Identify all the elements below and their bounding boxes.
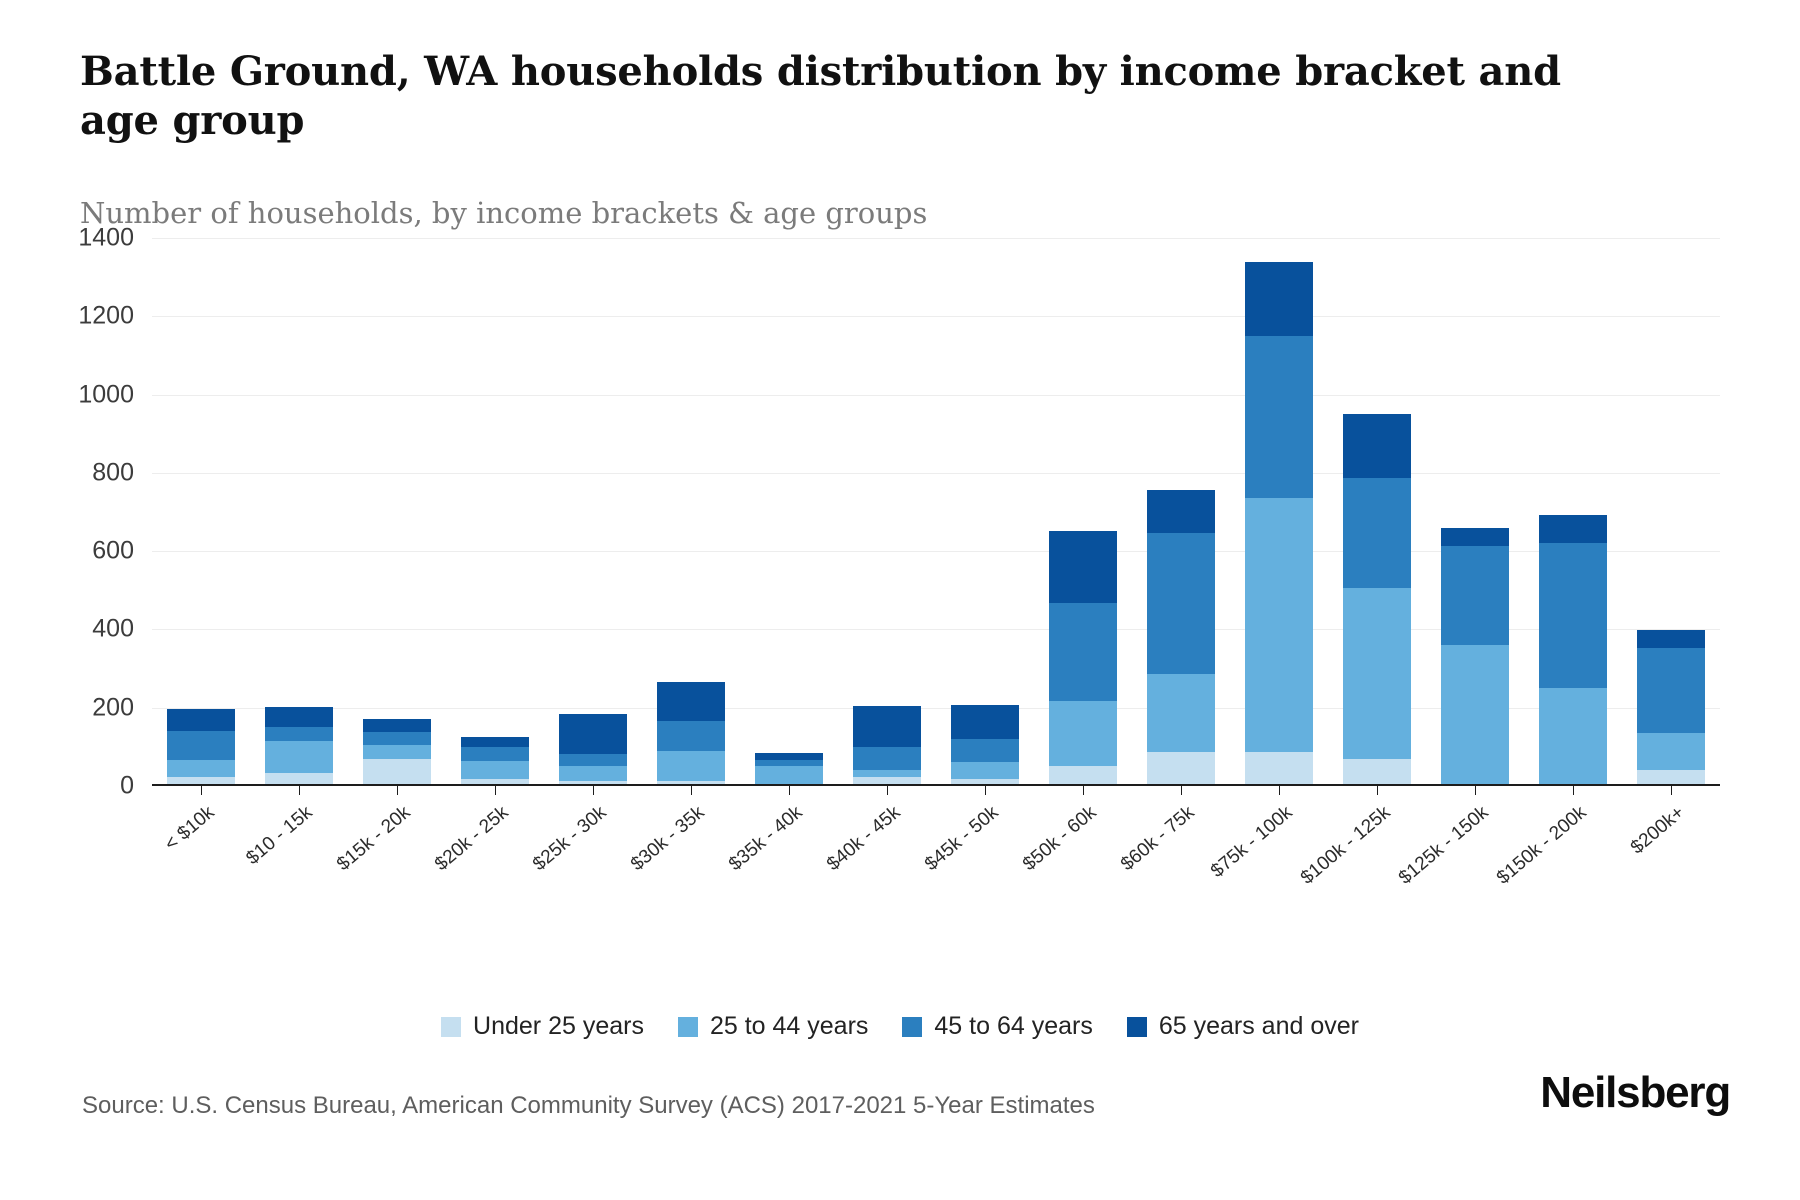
legend-item-label: 65 years and over <box>1159 1012 1359 1041</box>
x-axis-tick <box>1573 786 1574 795</box>
legend-item-label: 25 to 44 years <box>710 1012 868 1041</box>
page-title: Battle Ground, WA households distributio… <box>80 48 1640 146</box>
y-axis-tick-label: 400 <box>24 615 134 644</box>
bar-segment[interactable] <box>1441 546 1510 645</box>
legend-swatch-icon <box>441 1017 461 1037</box>
x-axis-tick <box>887 786 888 795</box>
x-axis-tick <box>1279 786 1280 795</box>
bar-segment[interactable] <box>755 766 824 786</box>
legend-item[interactable]: 45 to 64 years <box>902 1012 1092 1041</box>
source-note: Source: U.S. Census Bureau, American Com… <box>82 1092 1095 1120</box>
legend-swatch-icon <box>1127 1017 1147 1037</box>
bar-segment[interactable] <box>755 760 824 766</box>
bar-segment[interactable] <box>1343 414 1412 478</box>
stacked-bar[interactable] <box>1245 238 1314 786</box>
stacked-bar[interactable] <box>853 238 922 786</box>
bar-group[interactable] <box>1441 238 1510 786</box>
bar-segment[interactable] <box>1245 262 1314 336</box>
x-axis-tick <box>397 786 398 795</box>
x-axis-tick <box>1181 786 1182 795</box>
x-axis-tick <box>1671 786 1672 795</box>
bar-segment[interactable] <box>1637 733 1706 770</box>
x-axis-line <box>152 784 1720 786</box>
bar-group[interactable] <box>363 238 432 786</box>
bar-group[interactable] <box>853 238 922 786</box>
stacked-bar[interactable] <box>167 238 236 786</box>
bar-group[interactable] <box>1539 238 1608 786</box>
stacked-bar[interactable] <box>1637 238 1706 786</box>
bar-segment[interactable] <box>1245 498 1314 752</box>
bar-group[interactable] <box>1049 238 1118 786</box>
bar-segment[interactable] <box>461 761 530 779</box>
y-axis-tick-label: 1200 <box>24 302 134 331</box>
stacked-bar[interactable] <box>1147 238 1216 786</box>
stacked-bar[interactable] <box>559 238 628 786</box>
legend-item-label: Under 25 years <box>473 1012 644 1041</box>
stacked-bar[interactable] <box>265 238 334 786</box>
bar-segment[interactable] <box>1539 688 1608 786</box>
bar-segment[interactable] <box>1637 630 1706 648</box>
bar-segment[interactable] <box>167 709 236 731</box>
bar-group[interactable] <box>461 238 530 786</box>
bar-segment[interactable] <box>1637 648 1706 733</box>
bar-segment[interactable] <box>1343 478 1412 588</box>
bar-group[interactable] <box>265 238 334 786</box>
bar-segment[interactable] <box>951 739 1020 762</box>
x-axis-tick <box>789 786 790 795</box>
bar-segment[interactable] <box>559 766 628 781</box>
bar-segment[interactable] <box>1539 543 1608 688</box>
legend-item-label: 45 to 64 years <box>934 1012 1092 1041</box>
bar-group[interactable] <box>1637 238 1706 786</box>
bar-segment[interactable] <box>363 759 432 786</box>
x-axis-tick <box>593 786 594 795</box>
bar-segment[interactable] <box>1147 674 1216 752</box>
bar-segment[interactable] <box>1343 759 1412 786</box>
bar-segment[interactable] <box>1147 490 1216 533</box>
bar-segment[interactable] <box>1147 533 1216 674</box>
stacked-bar[interactable] <box>1539 238 1608 786</box>
bar-segment[interactable] <box>951 705 1020 739</box>
stacked-bar[interactable] <box>951 238 1020 786</box>
bar-segment[interactable] <box>265 741 334 772</box>
bar-segment[interactable] <box>167 760 236 777</box>
bar-segment[interactable] <box>853 747 922 770</box>
y-axis-tick-label: 200 <box>24 693 134 722</box>
bar-segment[interactable] <box>1049 531 1118 603</box>
legend-swatch-icon <box>902 1017 922 1037</box>
stacked-bar[interactable] <box>461 238 530 786</box>
bar-group[interactable] <box>657 238 726 786</box>
x-axis-tick <box>691 786 692 795</box>
bar-segment[interactable] <box>1441 528 1510 546</box>
x-axis-tick <box>985 786 986 795</box>
bar-segment[interactable] <box>853 770 922 778</box>
bar-group[interactable] <box>167 238 236 786</box>
chart-legend: Under 25 years25 to 44 years45 to 64 yea… <box>0 1012 1800 1041</box>
bar-segment[interactable] <box>1343 588 1412 759</box>
bar-segment[interactable] <box>657 721 726 750</box>
bar-segment[interactable] <box>363 719 432 732</box>
bar-segment[interactable] <box>853 706 922 747</box>
bar-segment[interactable] <box>1049 701 1118 766</box>
y-axis-tick-label: 1000 <box>24 380 134 409</box>
bar-segment[interactable] <box>167 731 236 760</box>
y-axis-tick-label: 600 <box>24 537 134 566</box>
plot-area: < $10k$10 - 15k$15k - 20k$20k - 25k$25k … <box>152 238 1720 786</box>
legend-item[interactable]: 25 to 44 years <box>678 1012 868 1041</box>
x-axis-tick <box>1377 786 1378 795</box>
bar-group[interactable] <box>1147 238 1216 786</box>
bar-segment[interactable] <box>1539 515 1608 543</box>
stacked-bar[interactable] <box>1049 238 1118 786</box>
bar-segment[interactable] <box>755 753 824 760</box>
bar-segment[interactable] <box>1049 603 1118 701</box>
bar-segment[interactable] <box>265 727 334 742</box>
bar-segment[interactable] <box>951 762 1020 779</box>
y-axis-tick-label: 800 <box>24 458 134 487</box>
page-subtitle: Number of households, by income brackets… <box>80 196 1480 231</box>
brand-logo: Neilsberg <box>1540 1068 1730 1118</box>
x-axis-tick <box>1083 786 1084 795</box>
x-axis-tick <box>299 786 300 795</box>
bar-segment[interactable] <box>559 714 628 754</box>
stacked-bar[interactable] <box>1441 238 1510 786</box>
bar-segment[interactable] <box>1147 752 1216 786</box>
bar-segment[interactable] <box>559 754 628 767</box>
stacked-bar[interactable] <box>755 238 824 786</box>
bar-group[interactable] <box>1245 238 1314 786</box>
x-axis-tick <box>201 786 202 795</box>
bar-segment[interactable] <box>1245 752 1314 786</box>
y-axis-tick-label: 0 <box>24 772 134 801</box>
bar-segment[interactable] <box>657 751 726 782</box>
bar-segment[interactable] <box>265 707 334 727</box>
chart-page: Battle Ground, WA households distributio… <box>0 0 1800 1200</box>
legend-item[interactable]: 65 years and over <box>1127 1012 1359 1041</box>
bar-segment[interactable] <box>461 747 530 761</box>
legend-item[interactable]: Under 25 years <box>441 1012 644 1041</box>
x-axis-tick <box>1475 786 1476 795</box>
bar-segment[interactable] <box>657 682 726 721</box>
bar-group[interactable] <box>755 238 824 786</box>
y-axis-tick-label: 1400 <box>24 224 134 253</box>
stacked-bar[interactable] <box>657 238 726 786</box>
bar-segment[interactable] <box>461 737 530 747</box>
bar-group[interactable] <box>559 238 628 786</box>
legend-swatch-icon <box>678 1017 698 1037</box>
bar-segment[interactable] <box>1441 645 1510 786</box>
bar-group[interactable] <box>951 238 1020 786</box>
bar-segment[interactable] <box>363 745 432 759</box>
bar-segment[interactable] <box>1245 336 1314 498</box>
bar-segment[interactable] <box>363 732 432 745</box>
bar-group[interactable] <box>1343 238 1412 786</box>
stacked-bar[interactable] <box>363 238 432 786</box>
x-axis-tick <box>495 786 496 795</box>
stacked-bar[interactable] <box>1343 238 1412 786</box>
